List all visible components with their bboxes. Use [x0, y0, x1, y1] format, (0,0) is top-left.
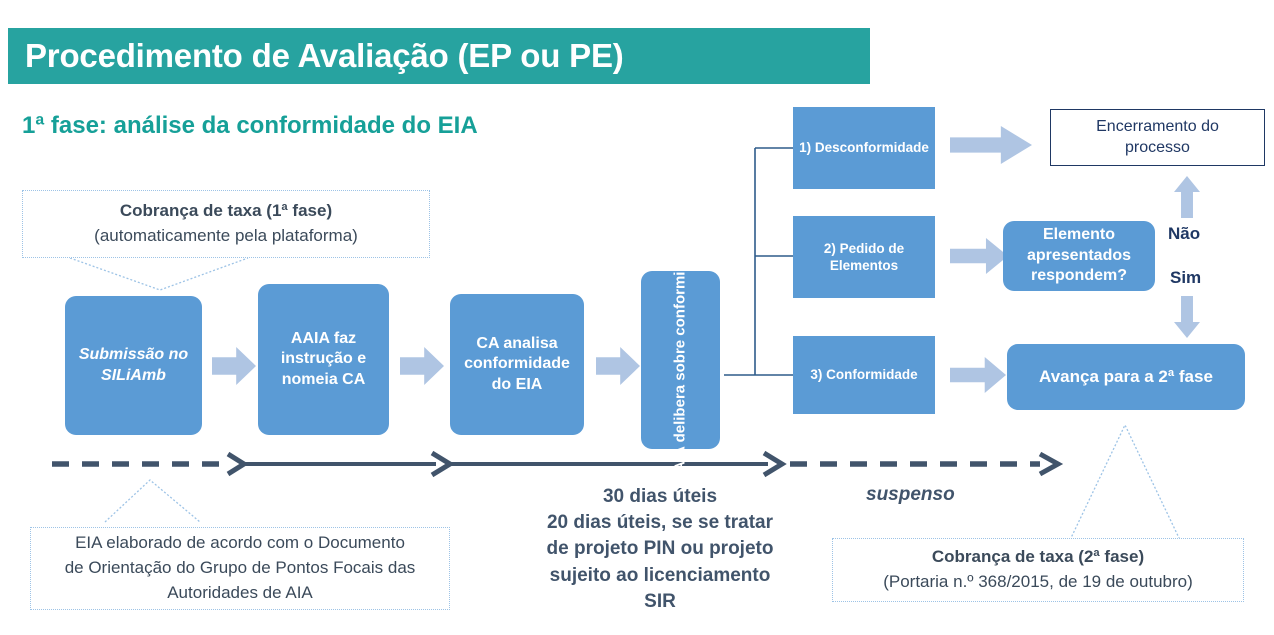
flow-arrow-right-icon-1 [212, 347, 256, 385]
timeline-arrowhead-2 [432, 453, 450, 475]
result-box-closure-line2: processo [1125, 138, 1190, 159]
result-box-closure[interactable]: Encerramento do processo [1050, 109, 1265, 166]
process-box-ca-analysis-line3: do EIA [492, 375, 543, 395]
callout-fee-phase1-line1: Cobrança de taxa (1ª fase) [120, 199, 332, 224]
outcome-box-request-elements-line1: 2) Pedido de [824, 240, 904, 257]
outcome-box-request-elements-line2: Elementos [830, 257, 898, 274]
callout-fee-phase2: Cobrança de taxa (2ª fase) (Portaria n.º… [832, 538, 1244, 602]
decision-box-line3: respondem? [1031, 266, 1127, 286]
process-box-submission-line1: Submissão no [79, 345, 188, 365]
decision-box-line1: Elemento [1043, 225, 1115, 245]
process-box-ca-analysis-line1: CA analisa [476, 334, 557, 354]
process-box-ca-analysis-line2: conformidade [464, 354, 570, 374]
outcome-box-conformity-label: 3) Conformidade [810, 366, 917, 383]
callout-fee-phase2-line1: Cobrança de taxa (2ª fase) [932, 545, 1144, 570]
timeline-duration-line5: SIR [520, 589, 800, 615]
flow-arrow-right-icon-nonconformity [950, 126, 1032, 164]
process-box-submission-line2: SILiAmb [101, 366, 166, 386]
phase-subtitle: 1ª fase: análise da conformidade do EIA [22, 112, 478, 140]
callout-eia-line3: Autoridades de AIA [167, 581, 313, 606]
outcome-box-nonconformity[interactable]: 1) Desconformidade [793, 107, 935, 189]
timeline-duration-line4: sujeito ao licenciamento [520, 563, 800, 589]
flow-arrow-right-icon-2 [400, 347, 444, 385]
callout-eia-line2: de Orientação do Grupo de Pontos Focais … [65, 556, 416, 581]
timeline-duration-note: 30 dias úteis 20 dias úteis, se se trata… [520, 484, 800, 615]
process-box-aaia-deliberation-label: AAIA delibera sobre conformidade [671, 237, 690, 483]
callout-fee-phase1: Cobrança de taxa (1ª fase) (automaticame… [22, 190, 430, 258]
timeline-duration-line3: de projeto PIN ou projeto [520, 536, 800, 562]
flow-arrow-right-icon-conformity [950, 357, 1006, 393]
process-box-ca-analysis[interactable]: CA analisa conformidade do EIA [450, 294, 584, 435]
decision-arrow-up-icon [1174, 176, 1200, 218]
result-box-advance-phase2[interactable]: Avança para a 2ª fase [1007, 344, 1245, 410]
timeline-duration-line2: 20 dias úteis, se se tratar [520, 510, 800, 536]
process-box-aaia-instruction-line3: nomeia CA [282, 370, 366, 390]
timeline-suspended-label: suspenso [866, 484, 955, 506]
decision-arrow-down-icon [1174, 296, 1200, 338]
callout-fee-phase2-line2: (Portaria n.º 368/2015, de 19 de outubro… [883, 570, 1193, 595]
outcome-box-nonconformity-label: 1) Desconformidade [799, 139, 929, 156]
callout-eia-document: EIA elaborado de acordo com o Documento … [30, 527, 450, 610]
page-title: Procedimento de Avaliação (EP ou PE) [8, 37, 624, 75]
timeline-duration-line1: 30 dias úteis [520, 484, 800, 510]
callout-pointer-fee1 [70, 258, 248, 290]
callout-pointer-eia [105, 480, 200, 522]
result-box-advance-label: Avança para a 2ª fase [1039, 366, 1213, 388]
timeline-arrowhead-1 [228, 454, 244, 474]
process-box-aaia-deliberation[interactable]: AAIA delibera sobre conformidade [641, 271, 720, 449]
process-box-aaia-instruction[interactable]: AAIA faz instrução e nomeia CA [258, 284, 389, 435]
callout-eia-line1: EIA elaborado de acordo com o Documento [75, 531, 405, 556]
process-box-submission[interactable]: Submissão no SILiAmb [65, 296, 202, 435]
outcome-box-request-elements[interactable]: 2) Pedido de Elementos [793, 216, 935, 298]
decision-label-yes: Sim [1170, 268, 1201, 288]
timeline-arrowhead-4 [1040, 454, 1058, 474]
callout-pointer-fee2 [1070, 425, 1180, 540]
decision-box-elements-respond[interactable]: Elemento apresentados respondem? [1003, 221, 1155, 291]
decision-label-no: Não [1168, 224, 1200, 244]
flow-arrow-right-icon-3 [596, 347, 640, 385]
flow-arrow-right-icon-request-elements [950, 238, 1008, 274]
decision-box-line2: apresentados [1027, 246, 1131, 266]
outcome-box-conformity[interactable]: 3) Conformidade [793, 336, 935, 414]
timeline-arrowhead-3 [764, 453, 782, 475]
callout-fee-phase1-line2: (automaticamente pela plataforma) [94, 224, 358, 249]
process-box-aaia-instruction-line1: AAIA faz [291, 329, 356, 349]
outcome-bracket [724, 148, 793, 375]
process-box-aaia-instruction-line2: instrução e [281, 349, 366, 369]
title-banner: Procedimento de Avaliação (EP ou PE) [8, 28, 870, 84]
result-box-closure-line1: Encerramento do [1096, 117, 1219, 138]
slide-canvas: Procedimento de Avaliação (EP ou PE) 1ª … [0, 0, 1274, 635]
